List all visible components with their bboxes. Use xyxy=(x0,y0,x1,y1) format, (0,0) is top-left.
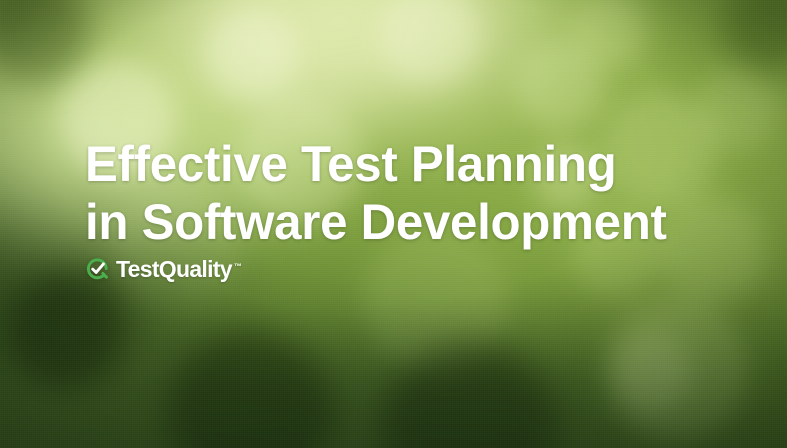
check-circle-icon xyxy=(86,258,109,281)
slide-title: Effective Test Planning in Software Deve… xyxy=(85,135,675,251)
slide-content: Effective Test Planning in Software Deve… xyxy=(0,0,787,448)
testquality-logo: TestQuality ™ xyxy=(86,254,232,284)
logo-wordmark: TestQuality ™ xyxy=(116,258,232,281)
title-slide: Effective Test Planning in Software Deve… xyxy=(0,0,787,448)
trademark-symbol: ™ xyxy=(234,255,242,278)
slide-title-line-1: Effective Test Planning xyxy=(85,135,667,193)
slide-title-line-2: in Software Development xyxy=(85,193,667,251)
logo-brand-name: TestQuality xyxy=(116,256,232,282)
